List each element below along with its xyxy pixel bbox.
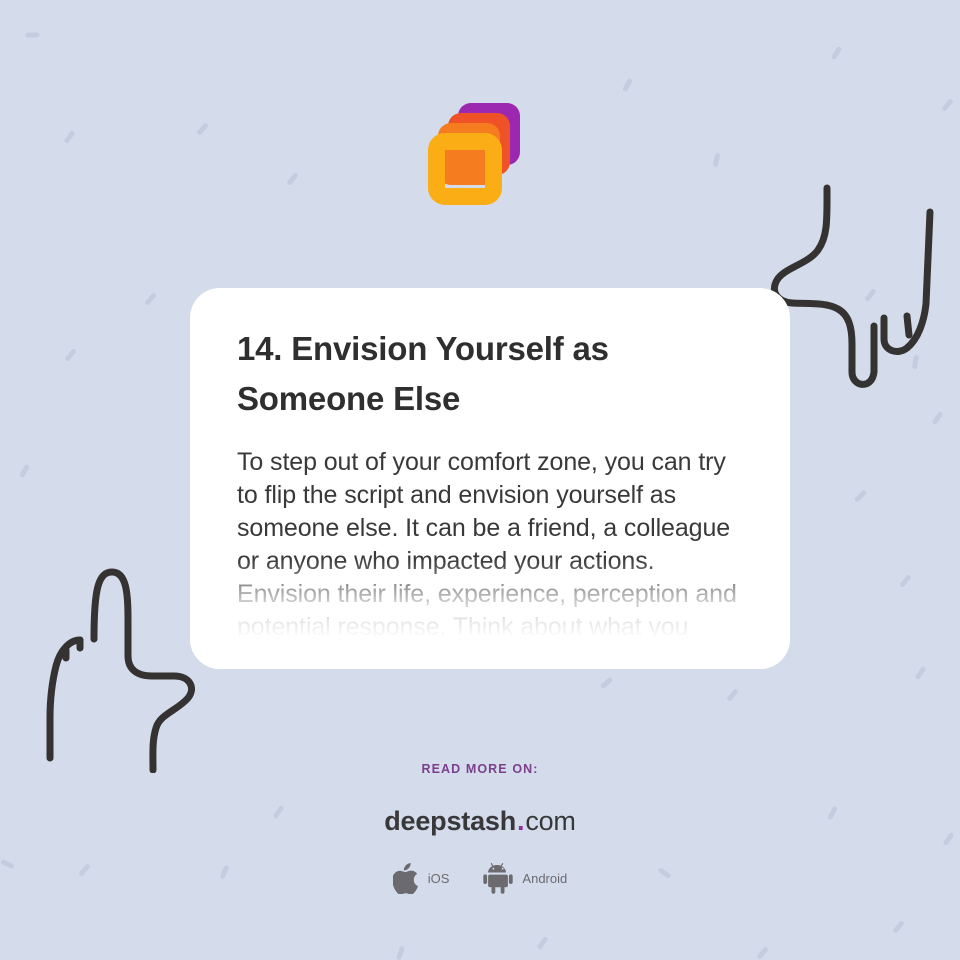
page-title: 14. Envision Yourself as Someone Else [237, 324, 743, 424]
deepstash-logo [428, 103, 520, 195]
ios-store-link[interactable]: iOS [393, 863, 450, 894]
logo-layer-amber [428, 133, 502, 205]
apple-icon [393, 863, 419, 894]
confetti-dash [144, 292, 157, 306]
confetti-dash [286, 172, 299, 186]
confetti-dash [622, 78, 633, 93]
confetti-dash [196, 122, 209, 136]
idea-card[interactable]: 14. Envision Yourself as Someone Else To… [190, 288, 790, 669]
confetti-dash [931, 411, 943, 425]
confetti-dash [899, 574, 912, 588]
confetti-dash [854, 489, 867, 503]
confetti-dash [536, 936, 548, 950]
confetti-dash [915, 666, 927, 680]
confetti-dash [64, 348, 77, 362]
confetti-dash [713, 153, 721, 168]
android-icon [483, 863, 513, 894]
confetti-dash [63, 130, 75, 144]
confetti-dash [831, 46, 843, 61]
idea-card-content: 14. Envision Yourself as Someone Else To… [190, 288, 790, 669]
confetti-dash [396, 946, 405, 960]
footer: READ MORE ON: deepstash.com iOS [0, 762, 960, 894]
app-store-links: iOS Android [0, 863, 960, 894]
pointing-hand-up-icon [22, 558, 212, 773]
deepstash-idea-card-page: 14. Envision Yourself as Someone Else To… [0, 0, 960, 960]
idea-body-text: To step out of your comfort zone, you ca… [237, 446, 743, 669]
ios-label: iOS [428, 871, 450, 886]
confetti-dash [19, 464, 30, 479]
confetti-dash [912, 355, 919, 370]
android-store-link[interactable]: Android [483, 863, 567, 894]
confetti-dash [26, 33, 40, 38]
read-more-label: READ MORE ON: [0, 762, 960, 776]
brand-name: deepstash [384, 806, 516, 836]
brand-dot: . [516, 806, 525, 836]
brand-wordmark[interactable]: deepstash.com [0, 806, 960, 837]
brand-tld: com [525, 806, 575, 836]
confetti-dash [756, 946, 769, 960]
android-label: Android [522, 871, 567, 886]
confetti-dash [600, 676, 614, 689]
confetti-dash [726, 688, 739, 702]
confetti-dash [892, 920, 905, 934]
confetti-dash [941, 98, 954, 112]
confetti-dash [864, 288, 877, 302]
